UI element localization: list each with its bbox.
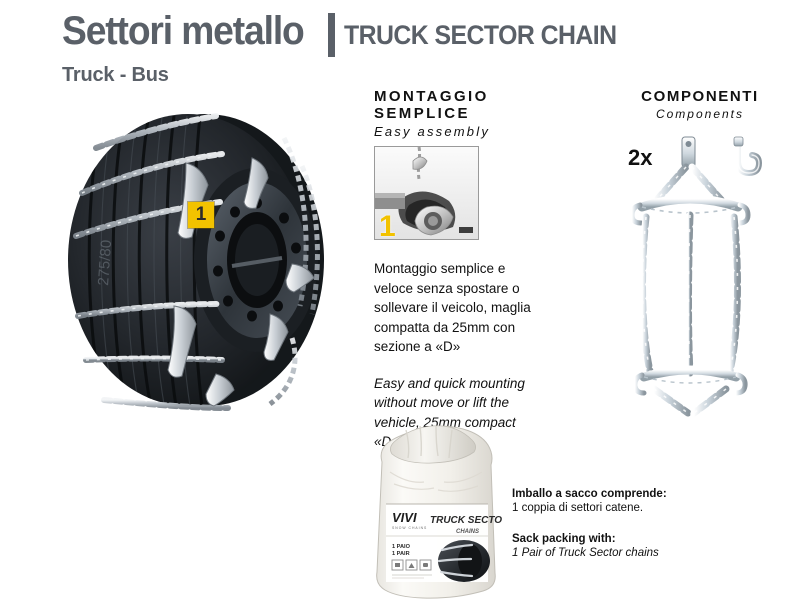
chain-assembly-illustration bbox=[620, 135, 780, 435]
page-title: Settori metallo bbox=[62, 8, 304, 54]
components-column: COMPONENTI Components bbox=[620, 88, 780, 435]
components-quantity: 2x bbox=[628, 145, 652, 171]
assembly-photo-number: 1 bbox=[379, 212, 396, 240]
components-figure: 2x bbox=[620, 135, 780, 435]
assembly-heading-en: Easy assembly bbox=[374, 124, 544, 139]
assembly-description-it: Montaggio semplice e veloce senza sposta… bbox=[374, 259, 542, 357]
packaging-line-it: 1 coppia di settori catene. bbox=[512, 501, 742, 515]
svg-text:1 PAIO: 1 PAIO bbox=[392, 544, 411, 550]
assembly-column: MONTAGGIO SEMPLICE Easy assembly bbox=[374, 88, 544, 452]
components-heading-it: COMPONENTI bbox=[620, 88, 780, 105]
assembly-photo: 1 bbox=[374, 146, 479, 240]
components-heading-en: Components bbox=[620, 107, 780, 121]
truck-tire-figure: 275/80 bbox=[56, 108, 356, 413]
title-divider bbox=[328, 13, 335, 57]
page-subtitle: Truck - Bus bbox=[62, 64, 762, 87]
svg-text:CHAINS: CHAINS bbox=[456, 529, 479, 535]
title-row: Settori metallo TRUCK SECTOR CHAIN bbox=[62, 8, 762, 58]
packaging-sack-figure: VIVI SNOW CHAINS TRUCK SECTOR CHAINS 1 P… bbox=[372, 422, 502, 604]
packaging-line-en: 1 Pair of Truck Sector chains bbox=[512, 546, 742, 560]
page-header: Settori metallo TRUCK SECTOR CHAIN Truck… bbox=[62, 8, 762, 87]
assembly-heading-it-line2: SEMPLICE bbox=[374, 105, 544, 122]
svg-text:SNOW CHAINS: SNOW CHAINS bbox=[392, 526, 427, 530]
page-title-english: TRUCK SECTOR CHAIN bbox=[344, 12, 617, 58]
truck-tire-illustration: 275/80 bbox=[56, 108, 356, 413]
svg-text:TRUCK SECTOR: TRUCK SECTOR bbox=[430, 515, 502, 526]
svg-text:VIVI: VIVI bbox=[392, 510, 417, 525]
packaging-block-en: Sack packing with: 1 Pair of Truck Secto… bbox=[512, 532, 742, 560]
callout-badge-1: 1 bbox=[188, 202, 214, 228]
assembly-heading-it-line1: MONTAGGIO bbox=[374, 88, 544, 105]
sack-illustration: VIVI SNOW CHAINS TRUCK SECTOR CHAINS 1 P… bbox=[372, 422, 502, 604]
packaging-block-it: Imballo a sacco comprende: 1 coppia di s… bbox=[512, 487, 742, 515]
svg-text:275/80: 275/80 bbox=[95, 239, 115, 286]
packaging-info: Imballo a sacco comprende: 1 coppia di s… bbox=[512, 487, 742, 560]
packaging-heading-it: Imballo a sacco comprende: bbox=[512, 487, 742, 501]
svg-text:1 PAIR: 1 PAIR bbox=[392, 551, 410, 557]
packaging-heading-en: Sack packing with: bbox=[512, 532, 742, 546]
